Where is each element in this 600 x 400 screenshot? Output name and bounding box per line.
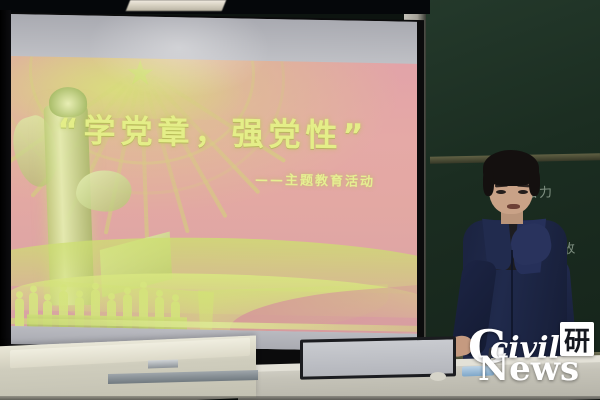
ceiling-band xyxy=(0,0,430,14)
screen-left-edge xyxy=(0,10,11,362)
presenter-eye-right xyxy=(518,190,528,194)
podium-hinge xyxy=(148,359,178,368)
slide-title: “学党章，强党性” xyxy=(9,104,417,158)
presentation-slide: ★ xyxy=(9,56,417,334)
bottom-shadow xyxy=(0,396,600,400)
presenter xyxy=(455,140,585,365)
blue-object xyxy=(462,365,494,376)
presenter-zipper xyxy=(511,250,513,350)
screenshot-root: 加力 收 ★ xyxy=(0,0,600,400)
projector-screen: ★ xyxy=(9,14,417,352)
ceiling-light-fixture xyxy=(126,0,226,11)
mouse xyxy=(430,372,446,381)
slide-subtitle: ——主题教育活动 xyxy=(255,169,375,190)
presenter-mouth xyxy=(507,204,520,209)
presenter-hair-side-right xyxy=(529,168,540,196)
presenter-eye-left xyxy=(496,190,506,194)
presenter-hair-side-left xyxy=(483,168,494,196)
